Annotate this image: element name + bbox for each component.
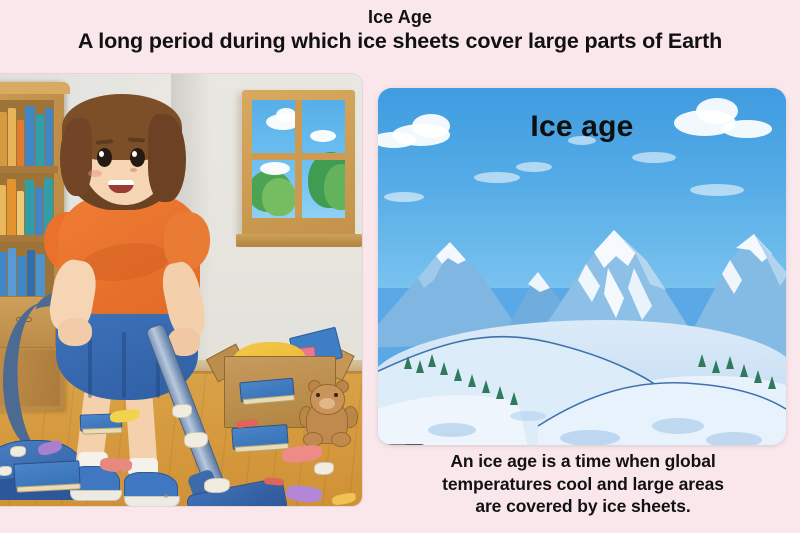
shoe-sole-left	[70, 490, 122, 501]
pine-tree-9	[510, 392, 518, 405]
teddy-snout	[319, 398, 335, 409]
pine-tree-1	[404, 356, 412, 369]
hair-side-left	[60, 118, 92, 196]
pine-tree-7	[482, 380, 490, 393]
right-illustration-panel: Ice age	[378, 88, 786, 445]
pine-tree-4	[440, 362, 448, 375]
pine-tree-13	[740, 364, 748, 377]
pine-tree-3	[428, 354, 436, 367]
teddy-leg-right	[331, 432, 351, 447]
hair-side-right	[148, 114, 186, 202]
crumpled-paper-2	[184, 432, 208, 448]
page-definition: A long period during which ice sheets co…	[78, 28, 722, 55]
shoe-sole-right	[124, 496, 180, 506]
crumpled-paper-6	[0, 466, 12, 476]
left-illustration-panel	[0, 74, 362, 506]
snow-contours	[378, 308, 786, 445]
pine-tree-11	[712, 360, 720, 373]
window-mullion-horizontal	[252, 153, 345, 160]
floor-book-4	[239, 378, 295, 403]
caption-line-2: temperatures cool and large areas	[378, 473, 788, 496]
crumpled-paper-3	[204, 478, 230, 493]
eye-highlight-right	[132, 151, 137, 157]
pine-tree-12	[726, 356, 734, 369]
hand-left	[58, 318, 92, 346]
pine-tree-14	[754, 370, 762, 383]
nose	[130, 168, 137, 172]
vocabulary-card: Ice Age A long period during which ice s…	[0, 0, 800, 533]
ice-age-label: Ice age	[378, 110, 786, 144]
pine-tree-2	[416, 360, 424, 373]
cloud-9	[632, 152, 676, 163]
crumpled-paper-1	[172, 404, 192, 418]
rock-2	[404, 444, 426, 445]
blush	[88, 170, 102, 177]
pine-tree-6	[468, 374, 476, 387]
caption: An ice age is a time when global tempera…	[378, 450, 788, 518]
caption-line-1: An ice age is a time when global	[378, 450, 788, 473]
teddy-eye-left	[316, 393, 320, 397]
pine-tree-10	[698, 354, 706, 367]
pine-tree-8	[496, 386, 504, 399]
pine-tree-5	[454, 368, 462, 381]
crumpled-paper-4	[314, 462, 334, 475]
page-title: Ice Age	[368, 6, 432, 28]
sleeve-right	[164, 212, 210, 270]
teddy-eye-right	[334, 393, 338, 397]
pine-tree-15	[768, 376, 776, 389]
crumpled-paper-5	[10, 446, 26, 457]
floor-book-1	[13, 460, 80, 489]
rock-snow-cap	[378, 432, 430, 444]
girl-character	[36, 84, 256, 506]
eye-highlight-left	[99, 151, 104, 157]
caption-line-3: are covered by ice sheets.	[378, 495, 788, 518]
card-header: Ice Age A long period during which ice s…	[0, 0, 800, 72]
